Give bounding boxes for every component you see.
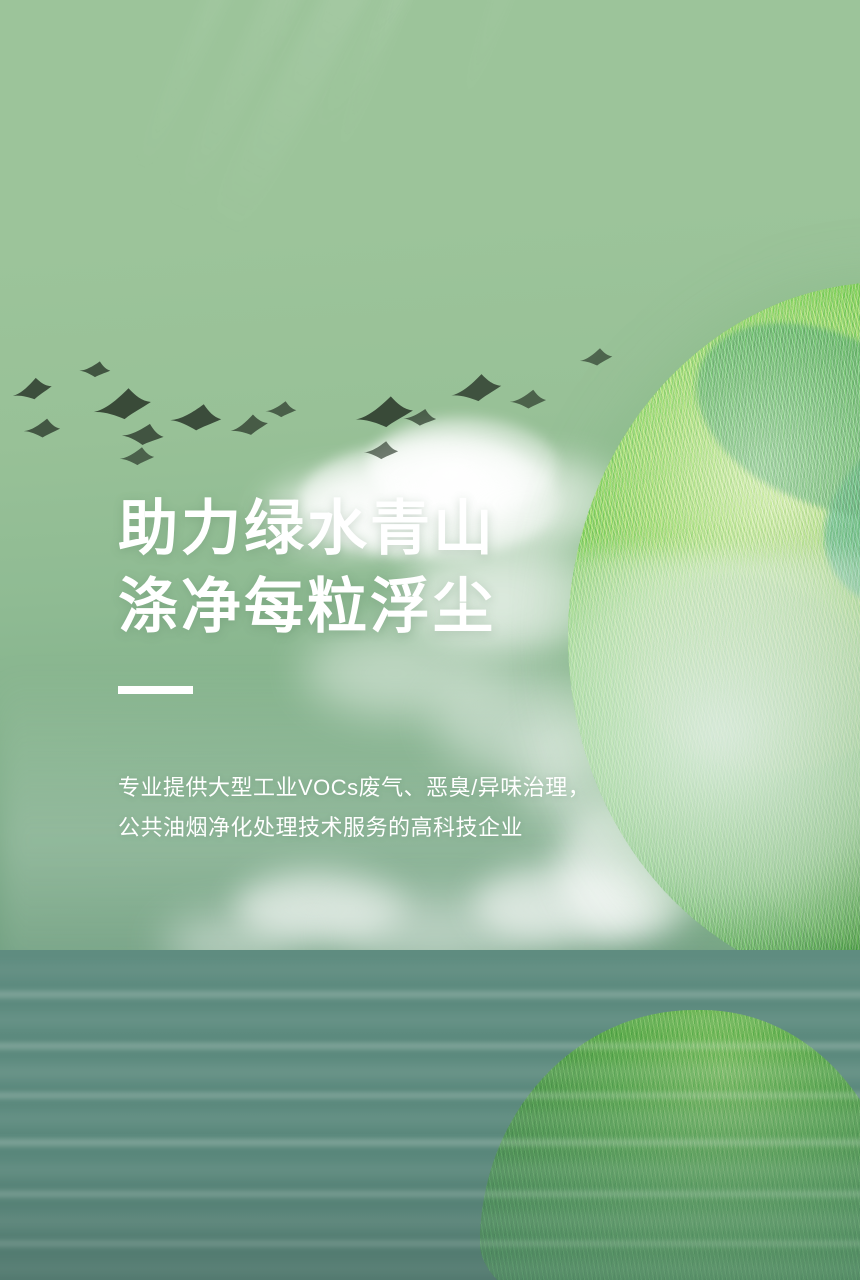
water-ripple-band (0, 990, 860, 999)
subtitle-line-2: 公共油烟净化处理技术服务的高科技企业 (118, 808, 678, 848)
headline-divider (118, 686, 193, 694)
hero-banner: 助力绿水青山 涤净每粒浮尘 专业提供大型工业VOCs废气、恶臭/异味治理， 公共… (0, 0, 860, 1280)
water-surface (0, 950, 860, 1280)
subtitle-line-1: 专业提供大型工业VOCs废气、恶臭/异味治理， (118, 768, 678, 808)
headline-line-2: 涤净每粒浮尘 (118, 568, 678, 646)
water-ripple-band (0, 964, 860, 976)
headline-line-1: 助力绿水青山 (118, 490, 678, 568)
hero-text-block: 助力绿水青山 涤净每粒浮尘 专业提供大型工业VOCs废气、恶臭/异味治理， 公共… (118, 490, 678, 848)
